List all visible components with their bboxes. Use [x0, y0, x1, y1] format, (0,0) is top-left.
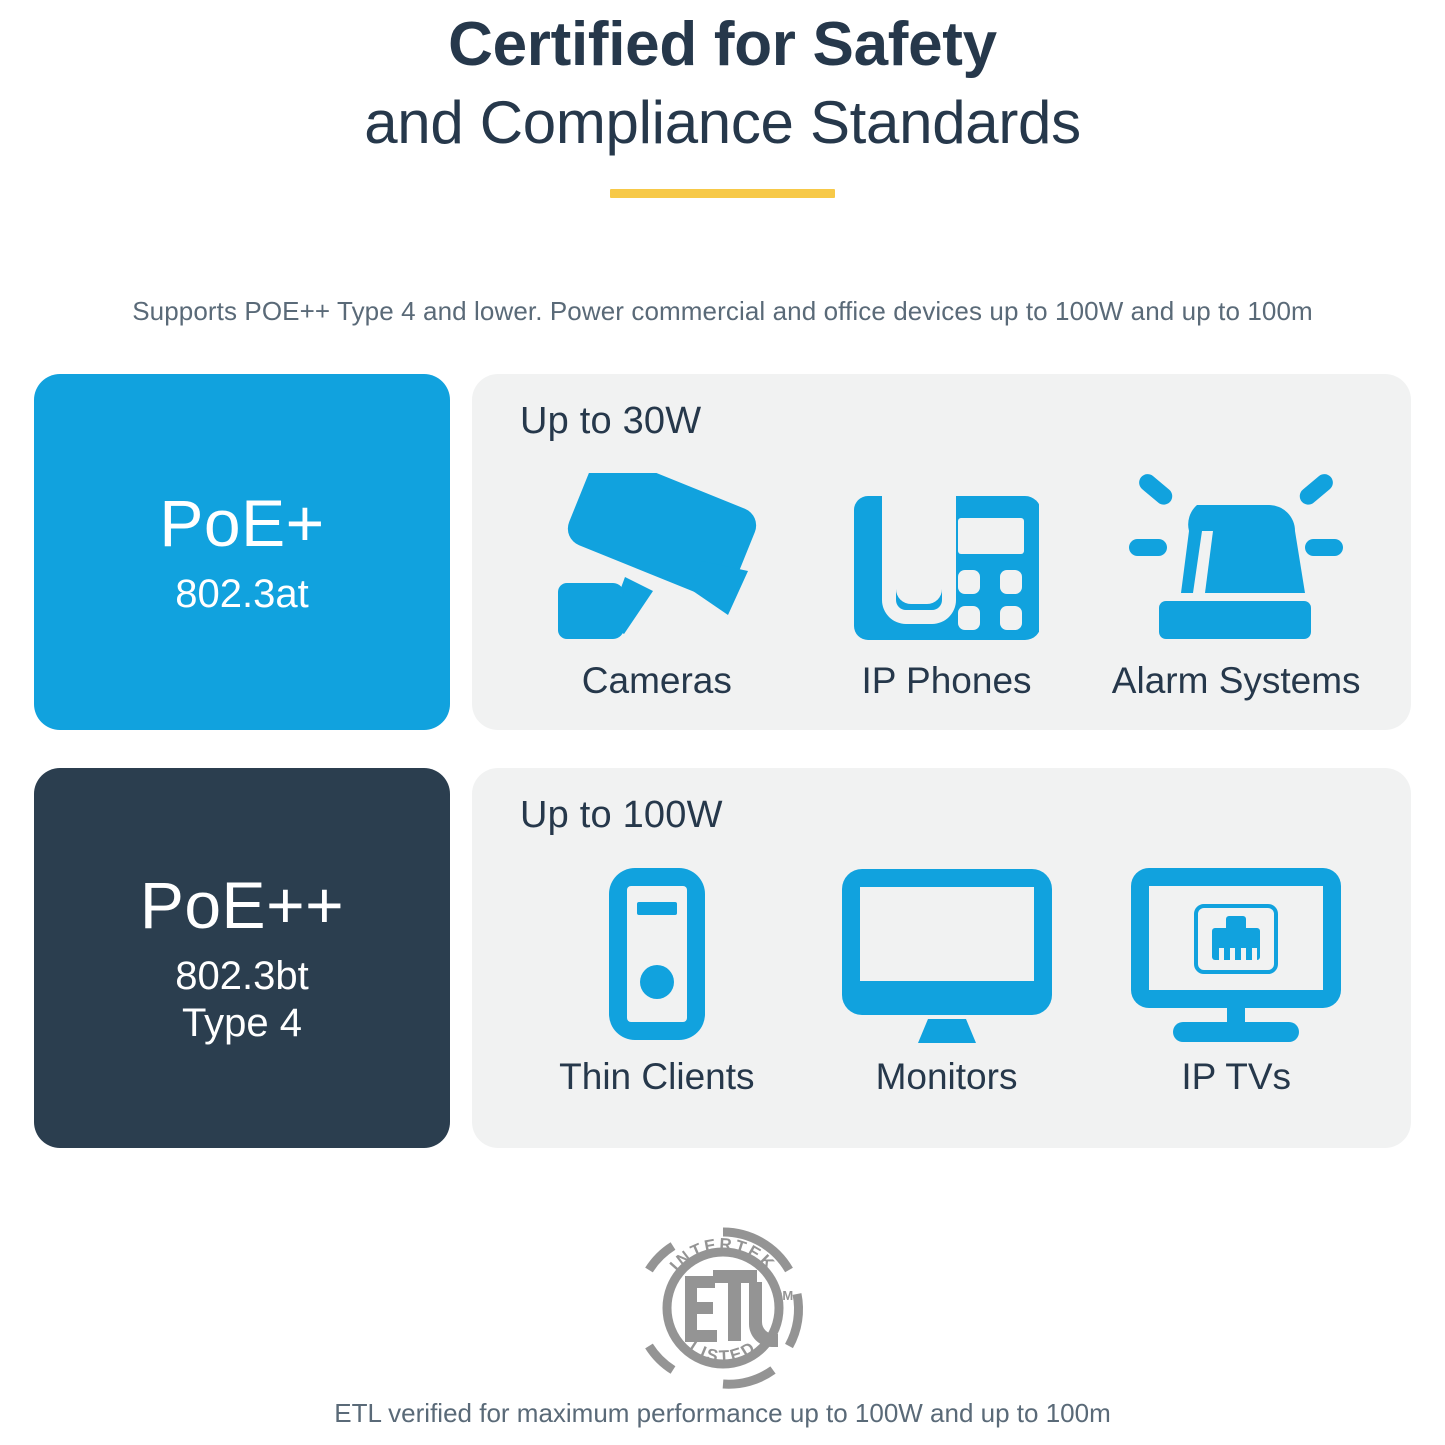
tier-badge-standard-group: 802.3bt Type 4: [175, 953, 308, 1047]
tier-badge-poe-plus: PoE+ 802.3at: [34, 374, 450, 730]
device-label: Alarm Systems: [1112, 660, 1361, 702]
ip-tv-icon: [1127, 864, 1345, 1044]
infographic-page: Certified for Safety and Compliance Stan…: [0, 0, 1445, 1445]
device-label: IP Phones: [861, 660, 1031, 702]
etl-cm-superscript: CM: [773, 1288, 793, 1303]
device-label: Thin Clients: [559, 1056, 754, 1098]
tier-badge-name: PoE++: [140, 869, 344, 941]
cctv-camera-icon: [552, 468, 762, 648]
device-icon-grid-30w: Cameras: [512, 468, 1381, 702]
tower-pc-icon: [603, 864, 711, 1044]
device-item-ip-tvs: IP TVs: [1091, 864, 1381, 1098]
tier-badge-standard: 802.3at: [175, 571, 308, 618]
tier-row-poe-plus-plus: PoE++ 802.3bt Type 4 Up to 100W: [34, 768, 1411, 1148]
device-label: Monitors: [876, 1056, 1018, 1098]
device-item-thin-clients: Thin Clients: [512, 864, 802, 1098]
page-title-line-1: Certified for Safety: [0, 6, 1445, 84]
tier-badge-standard: 802.3bt: [175, 954, 308, 998]
page-title-line-2: and Compliance Standards: [0, 84, 1445, 162]
device-item-cameras: Cameras: [512, 468, 802, 702]
tier-badge-type: Type 4: [175, 1000, 308, 1047]
siren-icon: [1119, 468, 1354, 648]
device-item-alarm-systems: Alarm Systems: [1091, 468, 1381, 702]
tier-badge-name: PoE+: [159, 487, 324, 559]
device-item-ip-phones: IP Phones: [802, 468, 1092, 702]
device-icon-grid-100w: Thin Clients Monitors: [512, 864, 1381, 1098]
device-item-monitors: Monitors: [802, 864, 1092, 1098]
tier-row-poe-plus: PoE+ 802.3at Up to 30W: [34, 374, 1411, 730]
monitor-icon: [838, 864, 1056, 1044]
panel-heading-30w: Up to 30W: [520, 400, 1381, 443]
device-label: IP TVs: [1181, 1056, 1291, 1098]
panel-heading-100w: Up to 100W: [520, 794, 1381, 837]
etl-certification-mark: CM INTERTEK LISTED: [0, 1224, 1445, 1392]
title-divider: [610, 189, 835, 198]
device-label: Cameras: [582, 660, 732, 702]
device-panel-30w: Up to 30W: [472, 374, 1411, 730]
device-panel-100w: Up to 100W Thin Clients: [472, 768, 1411, 1148]
etl-caption: ETL verified for maximum performance up …: [0, 1398, 1445, 1429]
subtitle-text: Supports POE++ Type 4 and lower. Power c…: [0, 296, 1445, 327]
desk-phone-icon: [854, 468, 1039, 648]
tier-badge-poe-plus-plus: PoE++ 802.3bt Type 4: [34, 768, 450, 1148]
header: Certified for Safety and Compliance Stan…: [0, 0, 1445, 198]
